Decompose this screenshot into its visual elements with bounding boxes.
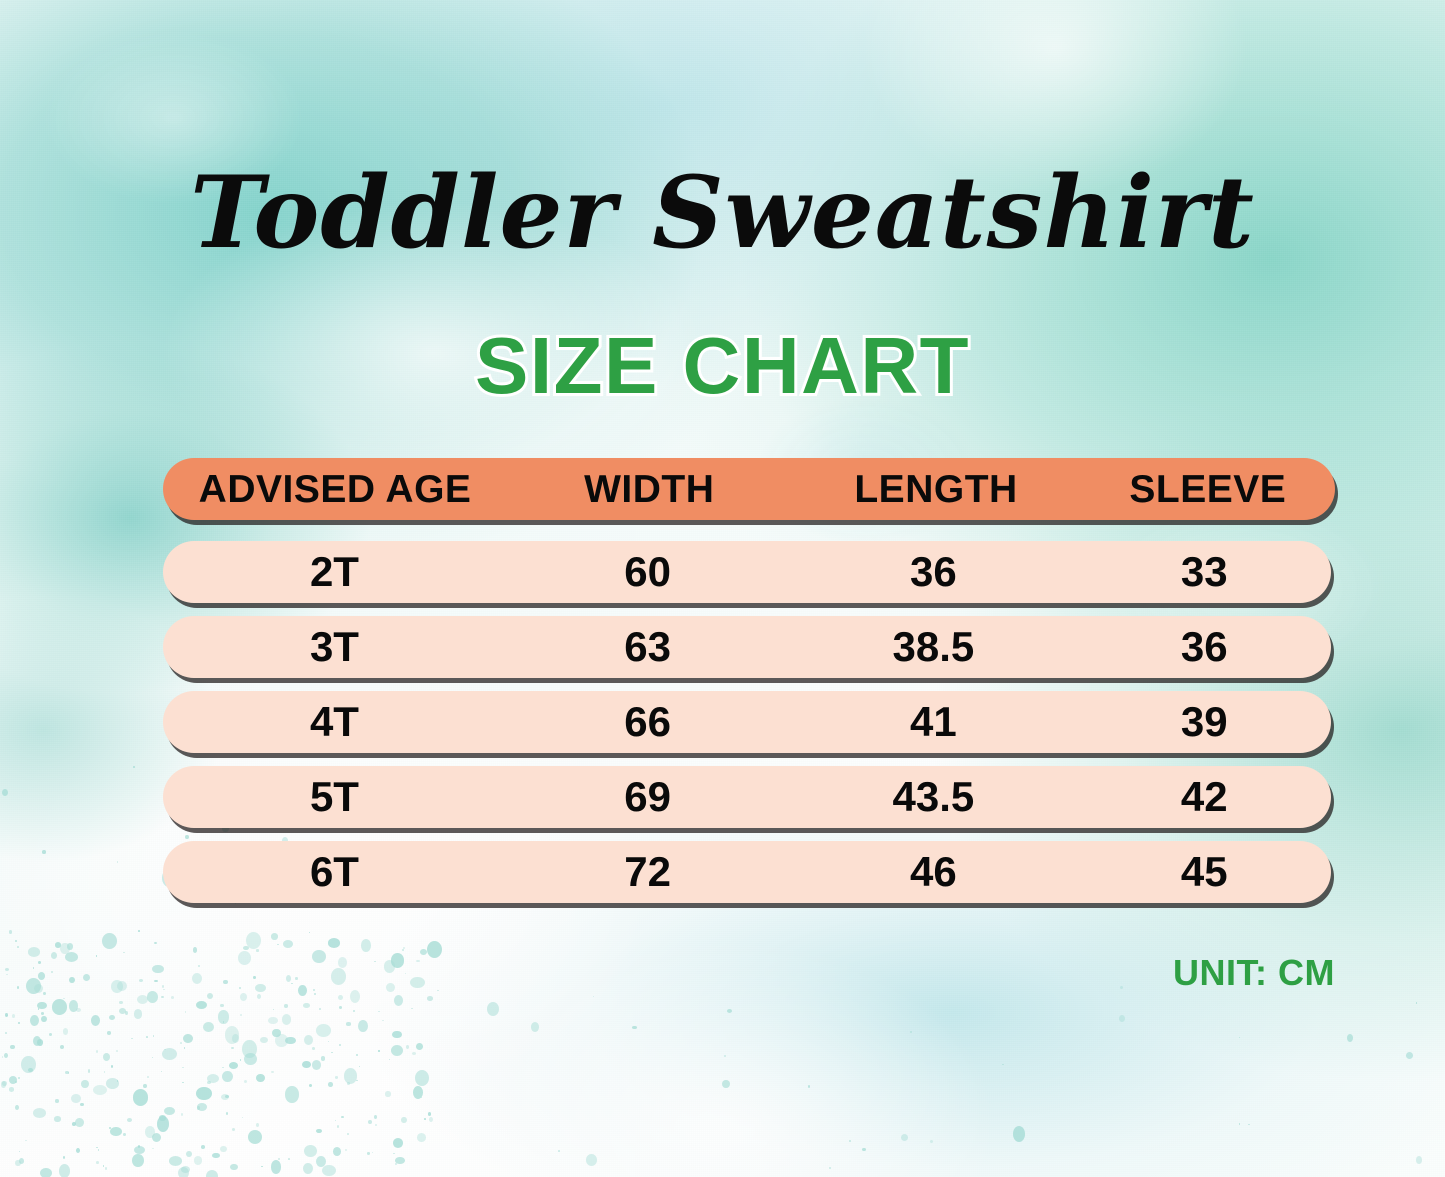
cell-length: 38.5 <box>789 626 1077 668</box>
unit-note: UNIT: CM <box>1173 952 1335 994</box>
cell-width: 72 <box>506 851 789 893</box>
column-header-length: LENGTH <box>791 470 1080 509</box>
table-row: 3T 63 38.5 36 <box>163 616 1331 678</box>
column-header-width: WIDTH <box>507 470 791 509</box>
table-row: 6T 72 46 45 <box>163 841 1331 903</box>
column-header-advised-age: ADVISED AGE <box>163 470 507 509</box>
cell-sleeve: 39 <box>1078 701 1331 743</box>
table-header-row: ADVISED AGE WIDTH LENGTH SLEEVE <box>163 458 1335 520</box>
column-header-sleeve: SLEEVE <box>1081 470 1335 509</box>
cell-sleeve: 33 <box>1078 551 1331 593</box>
page-title: Toddler Sweatshirt <box>0 162 1445 266</box>
cell-length: 36 <box>789 551 1077 593</box>
cell-width: 60 <box>506 551 789 593</box>
cell-width: 69 <box>506 776 789 818</box>
cell-length: 46 <box>789 851 1077 893</box>
table-row: 2T 60 36 33 <box>163 541 1331 603</box>
size-chart-table: ADVISED AGE WIDTH LENGTH SLEEVE 2T 60 36… <box>163 458 1338 903</box>
size-chart-poster: Toddler Sweatshirt SIZE CHART ADVISED AG… <box>0 0 1445 1177</box>
cell-length: 43.5 <box>789 776 1077 818</box>
table-row: 4T 66 41 39 <box>163 691 1331 753</box>
table-row: 5T 69 43.5 42 <box>163 766 1331 828</box>
cell-sleeve: 42 <box>1078 776 1331 818</box>
page-subtitle: SIZE CHART <box>0 324 1445 408</box>
cell-advised-age: 2T <box>163 551 506 593</box>
cell-sleeve: 45 <box>1078 851 1331 893</box>
cell-sleeve: 36 <box>1078 626 1331 668</box>
cell-width: 63 <box>506 626 789 668</box>
cell-advised-age: 3T <box>163 626 506 668</box>
cell-width: 66 <box>506 701 789 743</box>
cell-advised-age: 4T <box>163 701 506 743</box>
cell-length: 41 <box>789 701 1077 743</box>
cell-advised-age: 5T <box>163 776 506 818</box>
cell-advised-age: 6T <box>163 851 506 893</box>
